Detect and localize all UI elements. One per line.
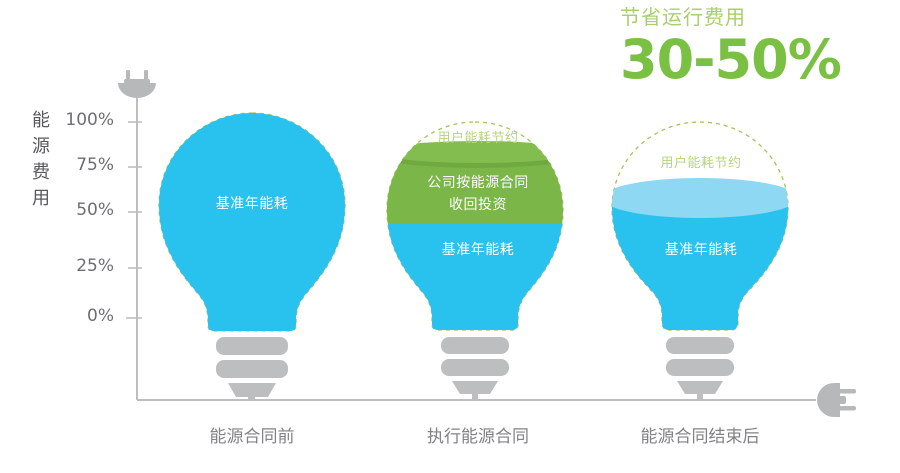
segment-baseline (378, 222, 578, 342)
bulb-before-contract (150, 113, 360, 401)
power-plug-icon (118, 70, 156, 98)
bulb-fill-group (378, 141, 578, 342)
y-axis-ticks (126, 122, 142, 318)
x-tick-before-contract: 能源合同前 (157, 422, 347, 447)
y-axis-title: 能源费用 (28, 108, 54, 212)
bulb2-savings-label: 用户能耗节约 (405, 130, 551, 148)
x-tick-during-contract: 执行能源合同 (383, 422, 573, 447)
bulb-fill-group (602, 178, 800, 343)
bulb-fill-group (150, 113, 360, 338)
segment-baseline (150, 113, 360, 338)
headline-block: 节省运行费用 30-50% (620, 4, 900, 88)
bulb3-savings-label: 用户能耗节约 (628, 155, 774, 173)
infographic-canvas: 节省运行费用 30-50% 能源费用 100% 75% 50% 25% 0% 能… (0, 0, 900, 473)
headline-subtitle: 节省运行费用 (620, 4, 900, 30)
liquid-surface (602, 178, 798, 218)
bulb-base (216, 337, 288, 401)
y-tick-50: 50% (56, 200, 114, 220)
y-tick-75: 75% (56, 155, 114, 175)
y-tick-0: 0% (56, 306, 114, 326)
bulb-base (441, 337, 509, 401)
y-tick-25: 25% (56, 256, 114, 276)
bulb-base (666, 337, 734, 401)
x-tick-after-contract: 能源合同结束后 (605, 422, 795, 447)
y-tick-100: 100% (56, 110, 114, 130)
bulb-during-contract (378, 122, 578, 401)
headline-value: 30-50% (620, 32, 900, 88)
power-socket-icon (817, 383, 856, 417)
